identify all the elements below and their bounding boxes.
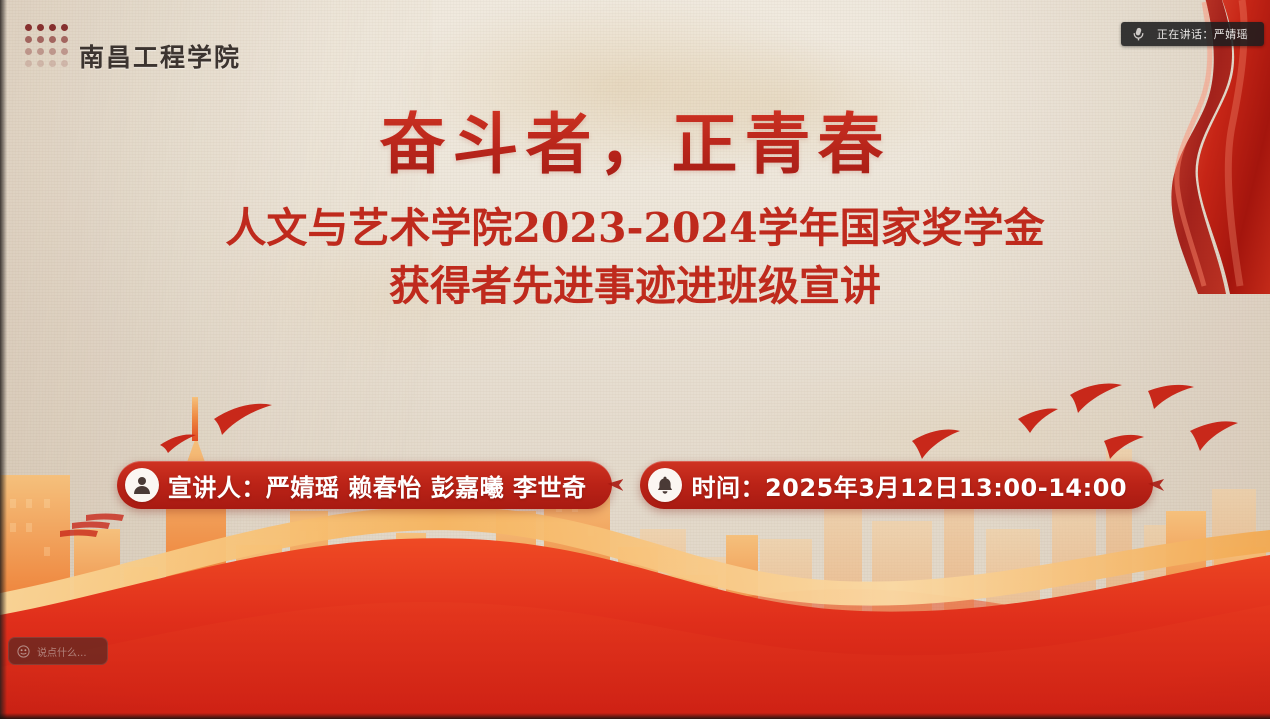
main-title: 奋斗者，正青春 xyxy=(0,104,1270,185)
screen-edge-bottom xyxy=(0,713,1270,719)
speaker-pill: 宣讲人：严婧瑶 赖春怡 彭嘉曦 李世奇 xyxy=(117,461,613,509)
person-icon xyxy=(125,468,159,502)
bell-icon xyxy=(648,468,682,502)
dot-grid-logo-icon xyxy=(25,24,68,70)
subtitle-line-1: 人文与艺术学院2023-2024学年国家奖学金 xyxy=(0,199,1270,257)
chat-input[interactable]: 说点什么... xyxy=(8,637,108,665)
city-skyline-artwork xyxy=(0,379,1270,719)
speaking-status-badge: 正在讲话：严婧瑶 xyxy=(1121,22,1264,46)
subtitle-line-2: 获得者先进事迹进班级宣讲 xyxy=(0,257,1270,315)
microphone-icon xyxy=(1132,27,1145,41)
time-pill: 时间：2025年3月12日13:00-14:00 xyxy=(640,461,1153,509)
chat-input-placeholder[interactable]: 说点什么... xyxy=(37,644,87,659)
title-block: 奋斗者，正青春 人文与艺术学院2023-2024学年国家奖学金 获得者先进事迹进… xyxy=(0,104,1270,315)
presentation-slide-stage: 南昌工程学院 奋斗者，正青春 人文与艺术学院2023-2024学年国家奖学金 获… xyxy=(0,0,1270,719)
speaking-status-text: 正在讲话：严婧瑶 xyxy=(1157,26,1248,42)
pill-tail-decoration xyxy=(607,479,623,491)
university-name: 南昌工程学院 xyxy=(79,45,241,70)
university-logo: 南昌工程学院 xyxy=(25,24,241,70)
pill-tail-decoration xyxy=(1148,479,1164,491)
time-pill-text: 时间：2025年3月12日13:00-14:00 xyxy=(691,468,1127,503)
speaker-pill-text: 宣讲人：严婧瑶 赖春怡 彭嘉曦 李世奇 xyxy=(168,468,587,503)
subtitle: 人文与艺术学院2023-2024学年国家奖学金 获得者先进事迹进班级宣讲 xyxy=(0,199,1270,315)
smiley-icon[interactable] xyxy=(17,645,30,658)
info-pill-row: 宣讲人：严婧瑶 赖春怡 彭嘉曦 李世奇 时间：2025年3月12日13:00-1… xyxy=(0,461,1270,509)
